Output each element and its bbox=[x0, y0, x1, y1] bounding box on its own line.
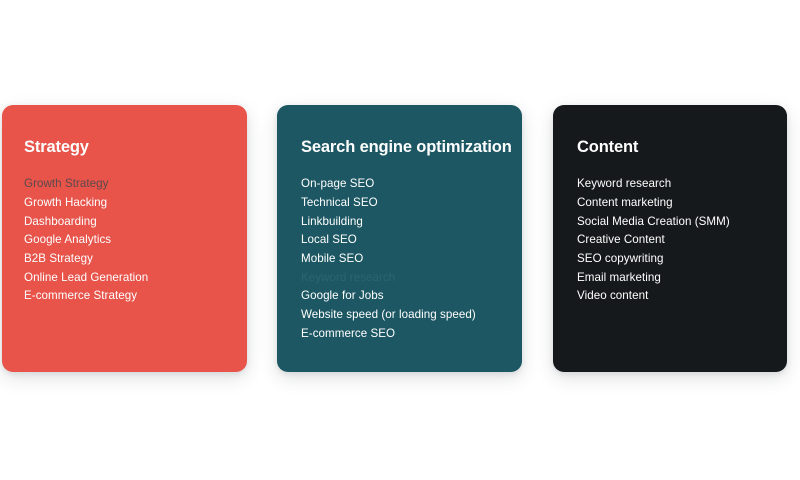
card-seo: Search engine optimization On-page SEOTe… bbox=[277, 105, 522, 372]
service-list-item[interactable]: Technical SEO bbox=[301, 194, 522, 213]
card-content-list: Keyword researchContent marketingSocial … bbox=[577, 175, 787, 306]
card-content: Content Keyword researchContent marketin… bbox=[553, 105, 787, 372]
service-list-item[interactable]: Social Media Creation (SMM) bbox=[577, 213, 787, 232]
service-list-item[interactable]: Video content bbox=[577, 287, 787, 306]
card-content-title: Content bbox=[577, 138, 787, 156]
card-seo-list: On-page SEOTechnical SEOLinkbuildingLoca… bbox=[301, 175, 522, 343]
service-list-item[interactable]: SEO copywriting bbox=[577, 250, 787, 269]
card-seo-title: Search engine optimization bbox=[301, 138, 522, 156]
service-list-item[interactable]: Google Analytics bbox=[24, 231, 247, 250]
service-list-item[interactable]: Online Lead Generation bbox=[24, 269, 247, 288]
service-list-item[interactable]: Local SEO bbox=[301, 231, 522, 250]
service-list-item[interactable]: Creative Content bbox=[577, 231, 787, 250]
service-list-item[interactable]: Google for Jobs bbox=[301, 287, 522, 306]
card-strategy-list: Growth StrategyGrowth HackingDashboardin… bbox=[24, 175, 247, 306]
services-card-board: Strategy Growth StrategyGrowth HackingDa… bbox=[0, 0, 800, 480]
service-list-item[interactable]: On-page SEO bbox=[301, 175, 522, 194]
service-list-item[interactable]: Growth Strategy bbox=[24, 175, 247, 194]
service-list-item[interactable]: Keyword research bbox=[301, 269, 522, 288]
service-list-item[interactable]: E-commerce SEO bbox=[301, 325, 522, 344]
card-strategy: Strategy Growth StrategyGrowth HackingDa… bbox=[2, 105, 247, 372]
service-list-item[interactable]: Linkbuilding bbox=[301, 213, 522, 232]
service-list-item[interactable]: Growth Hacking bbox=[24, 194, 247, 213]
service-list-item[interactable]: Dashboarding bbox=[24, 213, 247, 232]
service-list-item[interactable]: Content marketing bbox=[577, 194, 787, 213]
service-list-item[interactable]: B2B Strategy bbox=[24, 250, 247, 269]
service-list-item[interactable]: Email marketing bbox=[577, 269, 787, 288]
service-list-item[interactable]: Mobile SEO bbox=[301, 250, 522, 269]
card-strategy-title: Strategy bbox=[24, 138, 247, 156]
service-list-item[interactable]: Keyword research bbox=[577, 175, 787, 194]
service-list-item[interactable]: Website speed (or loading speed) bbox=[301, 306, 522, 325]
service-list-item[interactable]: E-commerce Strategy bbox=[24, 287, 247, 306]
